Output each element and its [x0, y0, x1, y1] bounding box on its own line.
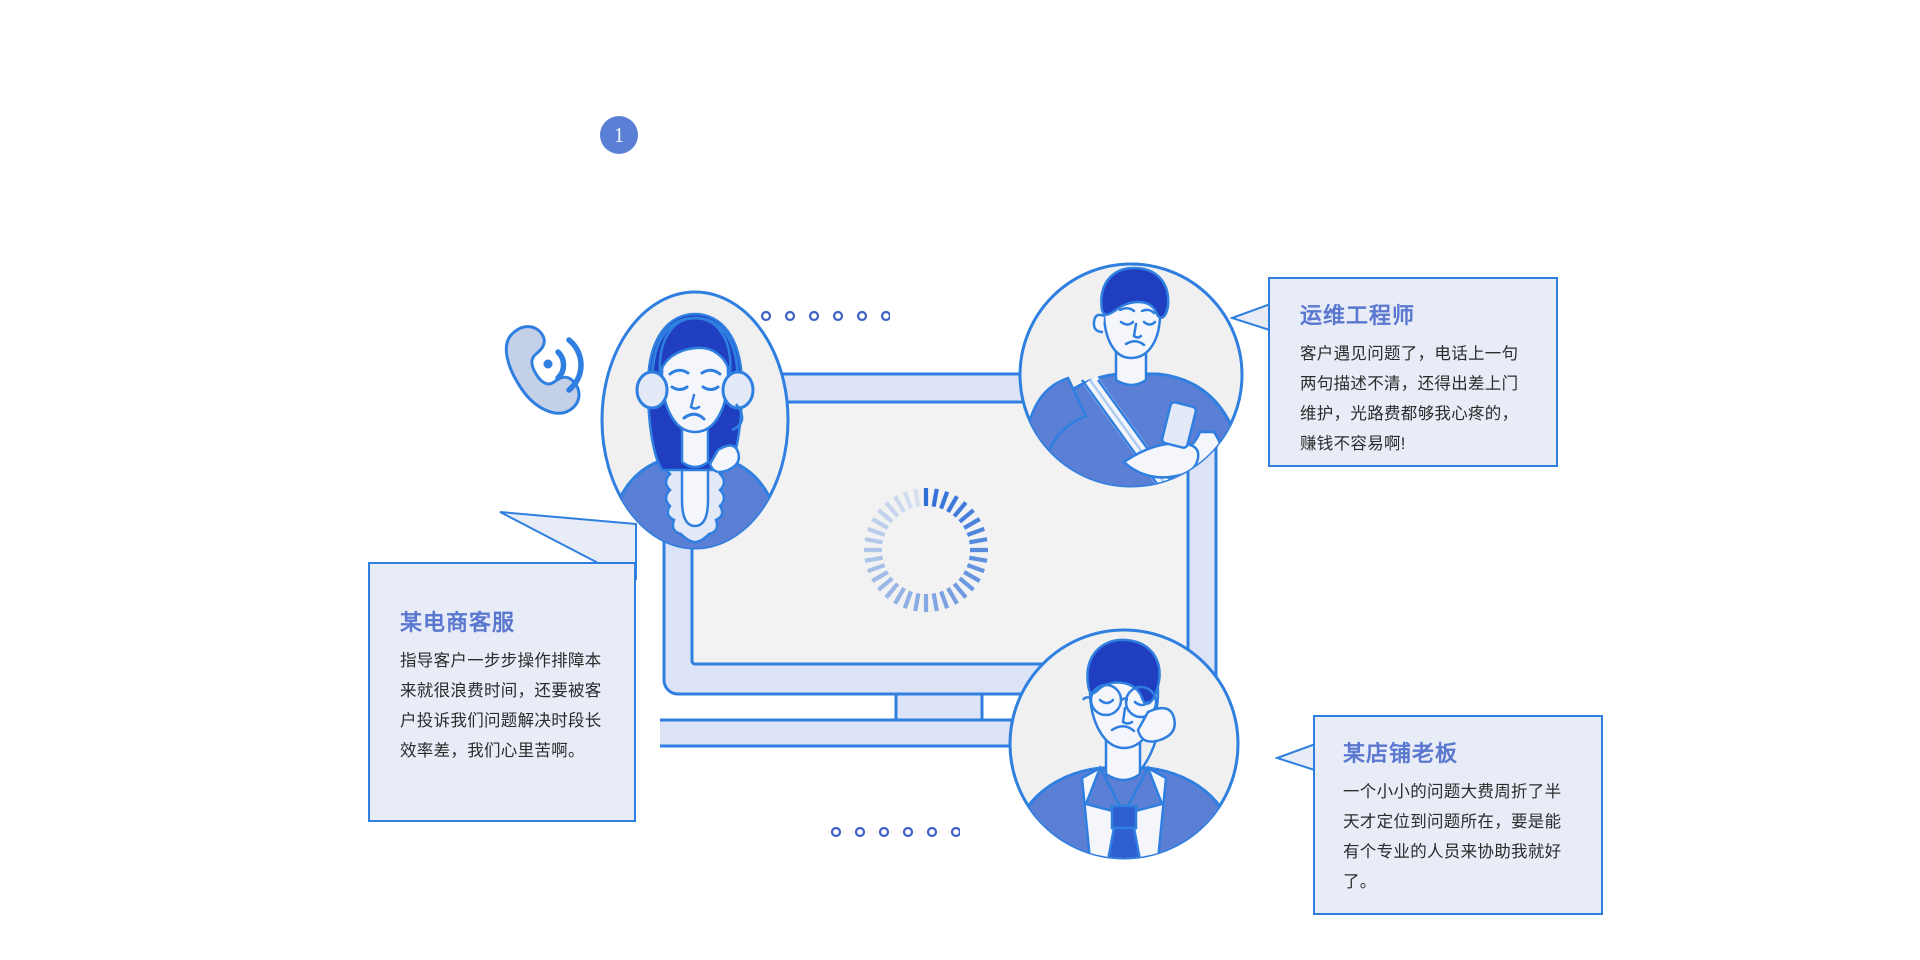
spinner-tick [934, 593, 937, 611]
spinner-tick [964, 572, 980, 581]
callout-title: 某店铺老板 [1343, 741, 1577, 767]
callout-body: 客户遇见问题了，电话上一句两句描述不清，还得出差上门维护，光路费都够我心疼的，赚… [1300, 339, 1532, 459]
decor-dot [882, 312, 890, 320]
decor-dot [858, 312, 866, 320]
callout-shop-owner[interactable]: 某店铺老板 一个小小的问题大费周折了半天才定位到问题所在，要是能有个专业的人员来… [1313, 715, 1603, 915]
tie-body [1108, 828, 1140, 860]
spinner-tick [960, 510, 974, 522]
ops-engineer-avatar [1018, 262, 1244, 488]
decor-dot [810, 312, 818, 320]
spinner-tick [886, 503, 898, 517]
callout-body: 一个小小的问题大费周折了半天才定位到问题所在，要是能有个专业的人员来协助我就好了… [1343, 777, 1577, 897]
illustration-canvas: 运维工程师 客户遇见问题了，电话上一句两句描述不清，还得出差上门维护，光路费都够… [0, 0, 1920, 960]
loading-spinner [846, 470, 1006, 630]
tie-knot [1112, 806, 1136, 828]
spinner-tick [865, 558, 883, 561]
spinner-tick [886, 584, 898, 598]
spinner-tick [941, 591, 947, 608]
spinner-tick [941, 492, 947, 509]
decor-dot [834, 312, 842, 320]
spinner-tick [872, 519, 888, 528]
spinner-tick [895, 496, 904, 512]
callout-ops-engineer[interactable]: 运维工程师 客户遇见问题了，电话上一句两句描述不清，还得出差上门维护，光路费都够… [1268, 277, 1558, 467]
decor-dot [952, 828, 960, 836]
customer-service-agent-avatar [600, 290, 790, 550]
spinner-tick [964, 519, 980, 528]
phone-wave-dot [544, 360, 553, 369]
spinner-tick [969, 558, 987, 561]
spinner-tick [954, 584, 966, 598]
spinner-tick [954, 503, 966, 517]
shop-owner-avatar [1008, 628, 1240, 860]
spinner-tick [960, 578, 974, 590]
spinner-tick [868, 529, 885, 535]
decor-dot [904, 828, 912, 836]
monitor-neck [896, 694, 982, 720]
callout-title: 运维工程师 [1300, 303, 1532, 329]
spinner-tick [868, 565, 885, 571]
spinner-tick [948, 588, 957, 604]
spinner-tick [865, 539, 883, 542]
spinner-tick [915, 489, 918, 507]
spinner-tick [879, 578, 893, 590]
decor-dot [928, 828, 936, 836]
decor-dot [856, 828, 864, 836]
bottom-dot-row [830, 822, 960, 842]
phone-wave-small [558, 352, 564, 378]
spinner-tick [872, 572, 888, 581]
callout-customer-service[interactable]: 某电商客服 指导客户一步步操作排障本来就很浪费时间，还要被客户投诉我们问题解决时… [368, 562, 636, 822]
monitor-base [660, 720, 1044, 746]
decor-dot [880, 828, 888, 836]
spinner-tick [934, 489, 937, 507]
spinner-tick [879, 510, 893, 522]
spinner-tick [969, 539, 987, 542]
spinner-tick [895, 588, 904, 604]
spinner-tick [905, 591, 911, 608]
spinner-tick [967, 529, 984, 535]
decor-dot [832, 828, 840, 836]
callout-body: 指导客户一步步操作排障本来就很浪费时间，还要被客户投诉我们问题解决时段长效率差，… [400, 646, 608, 766]
spinner-tick [967, 565, 984, 571]
headset-earcup [637, 372, 667, 408]
spinner-tick [915, 593, 918, 611]
spinner-tick [905, 492, 911, 509]
step-number-badge: 1 [600, 116, 638, 154]
telephone-ringing-icon [498, 312, 594, 418]
callout-title: 某电商客服 [400, 610, 608, 636]
spinner-tick [948, 496, 957, 512]
